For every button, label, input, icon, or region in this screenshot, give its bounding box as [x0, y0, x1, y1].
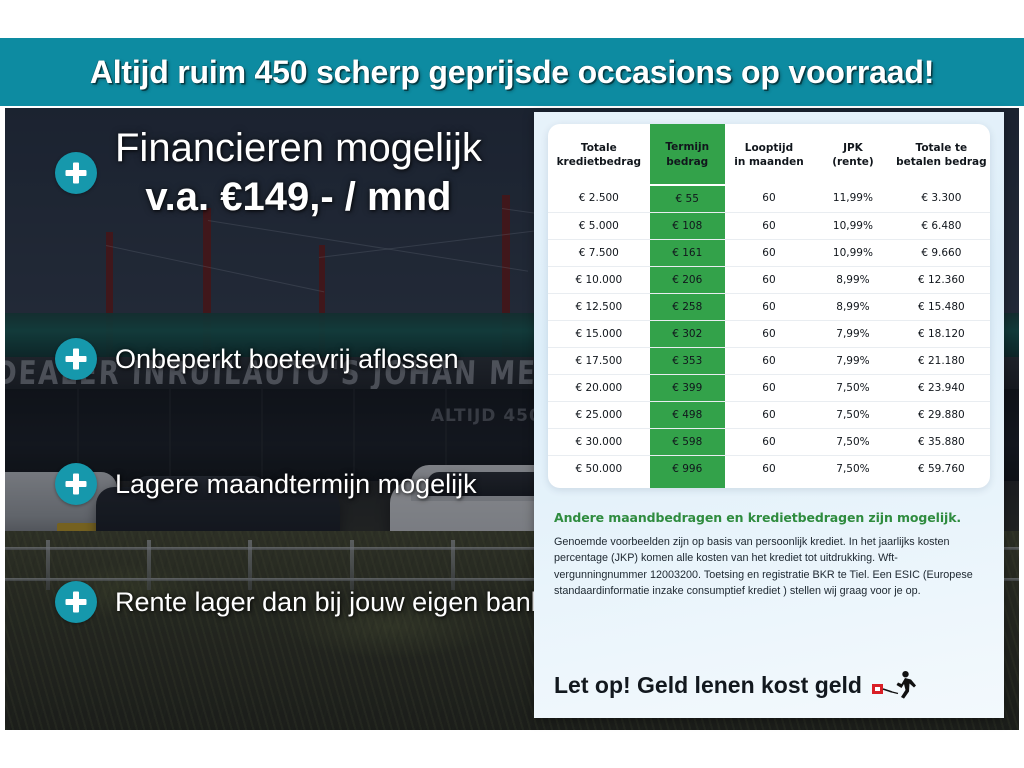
header-apr-line1: JPK — [843, 142, 863, 154]
header-total-payable-line1: Totale te — [916, 142, 968, 154]
cell-duration: 60 — [725, 320, 813, 347]
cell-total-payable: € 3.300 — [893, 185, 990, 213]
cell-duration: 60 — [725, 212, 813, 239]
rate-table-body: € 2.500€ 556011,99%€ 3.300€ 5.000€ 10860… — [548, 185, 990, 482]
table-row: € 20.000€ 399607,50%€ 23.940 — [548, 374, 990, 401]
plus-circle-icon — [55, 152, 97, 194]
disclaimer-section: Andere maandbedragen en kredietbedragen … — [548, 488, 990, 600]
cell-total-credit: € 2.500 — [548, 185, 650, 213]
cell-apr: 7,99% — [813, 347, 893, 374]
cell-total-payable: € 15.480 — [893, 293, 990, 320]
cell-term-amount: € 258 — [650, 293, 725, 320]
headline-block: Financieren mogelijk v.a. €149,- / mnd — [55, 125, 482, 221]
table-row: € 7.500€ 1616010,99%€ 9.660 — [548, 239, 990, 266]
cell-term-amount: € 206 — [650, 266, 725, 293]
cell-term-amount: € 399 — [650, 374, 725, 401]
cell-apr: 10,99% — [813, 212, 893, 239]
cell-apr: 8,99% — [813, 293, 893, 320]
cell-apr: 10,99% — [813, 239, 893, 266]
rate-table: Totale kredietbedrag Termijn bedrag Loop… — [548, 124, 990, 482]
table-row: € 15.000€ 302607,99%€ 18.120 — [548, 320, 990, 347]
cell-duration: 60 — [725, 293, 813, 320]
cell-duration: 60 — [725, 401, 813, 428]
header-total-payable: Totale te betalen bedrag — [893, 124, 990, 185]
banner-headline: Altijd ruim 450 scherp geprijsde occasio… — [90, 54, 934, 91]
table-row: € 17.500€ 353607,99%€ 21.180 — [548, 347, 990, 374]
cell-total-credit: € 15.000 — [548, 320, 650, 347]
header-term-amount-line1: Termijn — [665, 141, 709, 153]
disclaimer-title: Andere maandbedragen en kredietbedragen … — [554, 510, 984, 525]
cell-term-amount: € 996 — [650, 455, 725, 482]
table-row: € 2.500€ 556011,99%€ 3.300 — [548, 185, 990, 213]
header-term-amount-line2: bedrag — [666, 156, 708, 168]
feature-bullet-1-label: Onbeperkt boetevrij aflossen — [115, 344, 459, 375]
feature-bullet-2-label: Lagere maandtermijn mogelijk — [115, 469, 477, 500]
header-duration: Looptijd in maanden — [725, 124, 813, 185]
header-total-credit-line1: Totale — [581, 142, 617, 154]
cell-term-amount: € 598 — [650, 428, 725, 455]
cell-apr: 7,50% — [813, 455, 893, 482]
rate-table-head: Totale kredietbedrag Termijn bedrag Loop… — [548, 124, 990, 185]
feature-bullet-1: Onbeperkt boetevrij aflossen — [55, 338, 459, 380]
cell-total-payable: € 9.660 — [893, 239, 990, 266]
cell-total-credit: € 5.000 — [548, 212, 650, 239]
cell-term-amount: € 108 — [650, 212, 725, 239]
cell-total-payable: € 6.480 — [893, 212, 990, 239]
credit-warning: Let op! Geld lenen kost geld — [554, 670, 918, 700]
header-term-amount: Termijn bedrag — [650, 124, 725, 185]
cell-term-amount: € 302 — [650, 320, 725, 347]
cell-total-payable: € 59.760 — [893, 455, 990, 482]
cell-apr: 7,50% — [813, 428, 893, 455]
headline-line-2: v.a. €149,- / mnd — [145, 174, 451, 221]
cell-total-credit: € 30.000 — [548, 428, 650, 455]
plus-circle-icon — [55, 338, 97, 380]
cell-total-payable: € 21.180 — [893, 347, 990, 374]
cell-total-credit: € 50.000 — [548, 455, 650, 482]
feature-bullet-3: Rente lager dan bij jouw eigen bank — [55, 581, 544, 623]
cell-total-payable: € 29.880 — [893, 401, 990, 428]
cell-total-credit: € 17.500 — [548, 347, 650, 374]
cell-total-payable: € 35.880 — [893, 428, 990, 455]
cell-total-payable: € 23.940 — [893, 374, 990, 401]
cell-duration: 60 — [725, 455, 813, 482]
cell-apr: 8,99% — [813, 266, 893, 293]
cell-term-amount: € 55 — [650, 185, 725, 213]
cell-term-amount: € 353 — [650, 347, 725, 374]
header-total-credit-line2: kredietbedrag — [557, 156, 641, 168]
cell-total-payable: € 18.120 — [893, 320, 990, 347]
header-duration-line1: Looptijd — [745, 142, 793, 154]
cell-duration: 60 — [725, 428, 813, 455]
cell-duration: 60 — [725, 374, 813, 401]
plus-circle-icon — [55, 581, 97, 623]
cell-apr: 11,99% — [813, 185, 893, 213]
feature-bullet-3-label: Rente lager dan bij jouw eigen bank — [115, 587, 544, 618]
header-duration-line2: in maanden — [734, 156, 803, 168]
cell-apr: 7,50% — [813, 401, 893, 428]
cell-total-credit: € 12.500 — [548, 293, 650, 320]
feature-bullet-2: Lagere maandtermijn mogelijk — [55, 463, 477, 505]
header-apr: JPK (rente) — [813, 124, 893, 185]
header-total-payable-line2: betalen bedrag — [896, 156, 987, 168]
cell-duration: 60 — [725, 239, 813, 266]
cell-total-credit: € 20.000 — [548, 374, 650, 401]
cell-duration: 60 — [725, 347, 813, 374]
plus-circle-icon — [55, 463, 97, 505]
cell-total-credit: € 10.000 — [548, 266, 650, 293]
cell-apr: 7,99% — [813, 320, 893, 347]
headline-lines: Financieren mogelijk v.a. €149,- / mnd — [115, 125, 482, 221]
cell-total-credit: € 25.000 — [548, 401, 650, 428]
table-row: € 10.000€ 206608,99%€ 12.360 — [548, 266, 990, 293]
cell-duration: 60 — [725, 266, 813, 293]
headline-line-1: Financieren mogelijk — [115, 125, 482, 172]
disclaimer-body: Genoemde voorbeelden zijn op basis van p… — [554, 534, 974, 600]
table-row: € 25.000€ 498607,50%€ 29.880 — [548, 401, 990, 428]
cell-total-credit: € 7.500 — [548, 239, 650, 266]
rate-table-card: Totale kredietbedrag Termijn bedrag Loop… — [548, 124, 990, 488]
cell-apr: 7,50% — [813, 374, 893, 401]
financing-info-panel: Totale kredietbedrag Termijn bedrag Loop… — [534, 112, 1004, 718]
header-apr-line2: (rente) — [832, 156, 874, 168]
table-row: € 5.000€ 1086010,99%€ 6.480 — [548, 212, 990, 239]
cell-term-amount: € 498 — [650, 401, 725, 428]
cell-duration: 60 — [725, 185, 813, 213]
table-row: € 12.500€ 258608,99%€ 15.480 — [548, 293, 990, 320]
credit-warning-text: Let op! Geld lenen kost geld — [554, 672, 862, 699]
cell-term-amount: € 161 — [650, 239, 725, 266]
cell-total-payable: € 12.360 — [893, 266, 990, 293]
advertisement-stage: Altijd ruim 450 scherp geprijsde occasio… — [0, 0, 1024, 768]
header-total-credit: Totale kredietbedrag — [548, 124, 650, 185]
table-row: € 50.000€ 996607,50%€ 59.760 — [548, 455, 990, 482]
running-man-warning-icon — [872, 670, 918, 700]
table-row: € 30.000€ 598607,50%€ 35.880 — [548, 428, 990, 455]
top-banner: Altijd ruim 450 scherp geprijsde occasio… — [0, 38, 1024, 106]
rate-table-header-row: Totale kredietbedrag Termijn bedrag Loop… — [548, 124, 990, 185]
